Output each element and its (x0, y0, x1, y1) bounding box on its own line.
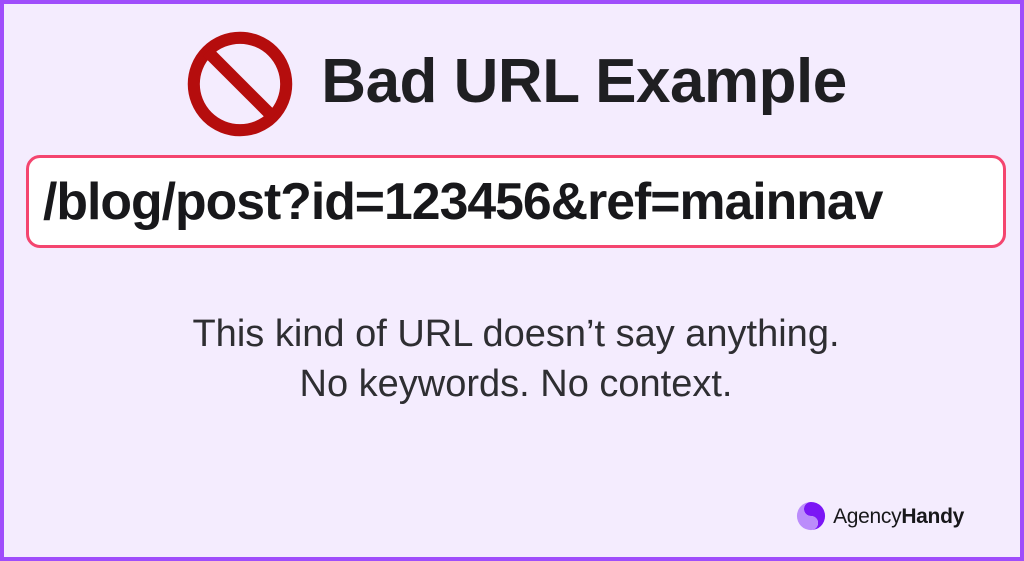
agencyhandy-swirl-icon (796, 501, 826, 531)
caption-line-2: No keywords. No context. (4, 359, 1024, 409)
agencyhandy-logo: AgencyHandy (796, 501, 964, 531)
page-title: Bad URL Example (321, 51, 846, 117)
caption-block: This kind of URL doesn’t say anything. N… (4, 309, 1024, 409)
url-example-box: /blog/post?id=123456&ref=mainnav (26, 155, 1006, 248)
agencyhandy-wordmark: AgencyHandy (833, 506, 964, 527)
caption-line-1: This kind of URL doesn’t say anything. (4, 309, 1024, 359)
logo-word-handy: Handy (901, 505, 964, 528)
logo-word-agency: Agency (833, 505, 901, 528)
slide-canvas: Bad URL Example /blog/post?id=123456&ref… (0, 0, 1024, 561)
url-text: /blog/post?id=123456&ref=mainnav (43, 172, 984, 232)
header-row: Bad URL Example (4, 26, 1024, 142)
prohibition-icon (185, 29, 295, 139)
